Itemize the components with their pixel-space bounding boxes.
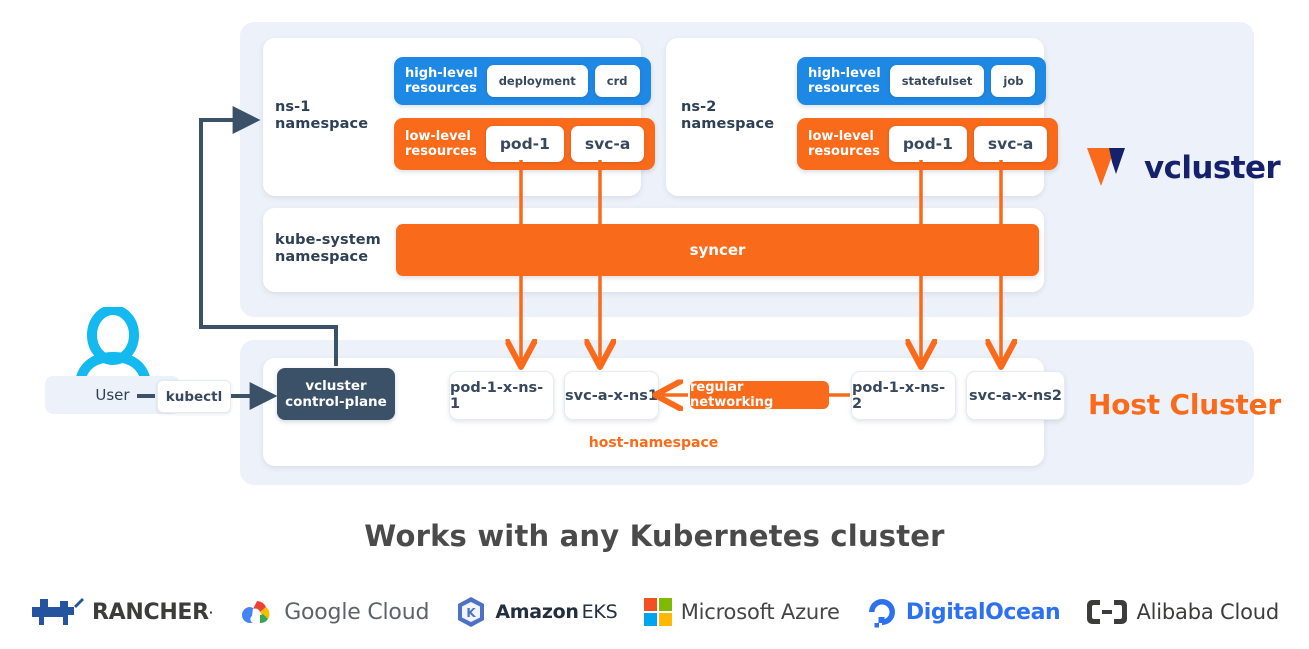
rancher-trademark-mark: · [209, 606, 213, 619]
resource-chip-crd[interactable]: crd [595, 65, 640, 97]
user-person-icon [68, 307, 158, 385]
namespace-label-ns-2: ns-2 namespace [681, 99, 774, 133]
logo-microsoft-azure: Microsoft Azure [644, 590, 840, 634]
rancher-logo-text: RANCHER [92, 600, 209, 625]
vcluster-v-logo-icon [1085, 146, 1141, 190]
vcluster-logo-text: vcluster [1144, 150, 1280, 186]
namespace-label-ns-1: ns-1 namespace [275, 99, 368, 133]
host-resource-svc-a-x-ns2[interactable]: svc-a-x-ns2 [966, 371, 1065, 420]
logo-amazon-eks: K Amazon EKS [455, 590, 617, 634]
logo-digitalocean: DigitalOcean [866, 590, 1060, 634]
logo-alibaba-cloud: Alibaba Cloud [1086, 590, 1279, 634]
microsoft-azure-logo-text: Microsoft Azure [681, 600, 840, 624]
resource-group-high-level-ns-1: high-level resources deployment crd [394, 57, 651, 105]
footer-title: Works with any Kubernetes cluster [0, 519, 1309, 553]
alibaba-cloud-bracket-icon [1086, 599, 1128, 625]
host-cluster-title: Host Cluster [1088, 388, 1281, 421]
digitalocean-icon [866, 596, 898, 628]
microsoft-squares-icon [644, 598, 672, 626]
resource-chip-svc-a[interactable]: svc-a [974, 126, 1047, 162]
resource-chip-deployment[interactable]: deployment [487, 65, 588, 97]
resource-group-high-level-ns-2: high-level resources statefulset job [797, 57, 1046, 105]
vcluster-control-plane-box[interactable]: vcluster control-plane [277, 368, 395, 420]
resource-chip-job[interactable]: job [991, 65, 1035, 97]
resource-group-title: low-level resources [808, 129, 880, 159]
host-namespace-label: host-namespace [263, 435, 1044, 451]
resource-group-title: low-level resources [405, 129, 477, 159]
resource-chip-statefulset[interactable]: statefulset [890, 65, 985, 97]
amazon-eks-logo-text-eks: EKS [582, 601, 618, 623]
user-label: User [95, 386, 129, 404]
kubectl-box[interactable]: kubectl [157, 380, 231, 413]
diagram-canvas: ns-1 namespace high-level resources depl… [0, 0, 1309, 649]
amazon-eks-hexagon-icon: K [455, 595, 487, 629]
google-cloud-logo-text: Google Cloud [284, 600, 429, 625]
resource-chip-pod-1[interactable]: pod-1 [889, 126, 967, 162]
resource-group-title: high-level resources [405, 66, 478, 96]
syncer-bar[interactable]: syncer [396, 224, 1039, 276]
resource-chip-svc-a[interactable]: svc-a [571, 126, 644, 162]
host-resource-pod-1-x-ns-2[interactable]: pod-1-x-ns-2 [851, 371, 956, 420]
resource-chip-pod-1[interactable]: pod-1 [486, 126, 564, 162]
rancher-cow-icon [30, 595, 86, 629]
regular-networking-badge: regular networking [690, 381, 829, 409]
host-resource-pod-1-x-ns-1[interactable]: pod-1-x-ns-1 [449, 371, 554, 420]
logo-google-cloud: Google Cloud [239, 590, 429, 634]
namespace-label-kube-system: kube-system namespace [275, 232, 381, 266]
amazon-eks-logo-text-amazon: Amazon [495, 601, 578, 623]
resource-group-low-level-ns-2: low-level resources pod-1 svc-a [797, 118, 1058, 170]
resource-group-low-level-ns-1: low-level resources pod-1 svc-a [394, 118, 655, 170]
resource-group-title: high-level resources [808, 66, 881, 96]
partner-logo-row: RANCHER · Google Cloud K Amazon EKS [30, 583, 1279, 641]
vcluster-logo: vcluster [1085, 146, 1280, 190]
logo-rancher: RANCHER · [30, 590, 213, 634]
svg-text:K: K [467, 606, 477, 620]
digitalocean-logo-text: DigitalOcean [906, 600, 1060, 625]
google-cloud-icon [239, 597, 275, 627]
host-resource-svc-a-x-ns1[interactable]: svc-a-x-ns1 [564, 371, 659, 420]
alibaba-cloud-logo-text: Alibaba Cloud [1136, 600, 1279, 624]
